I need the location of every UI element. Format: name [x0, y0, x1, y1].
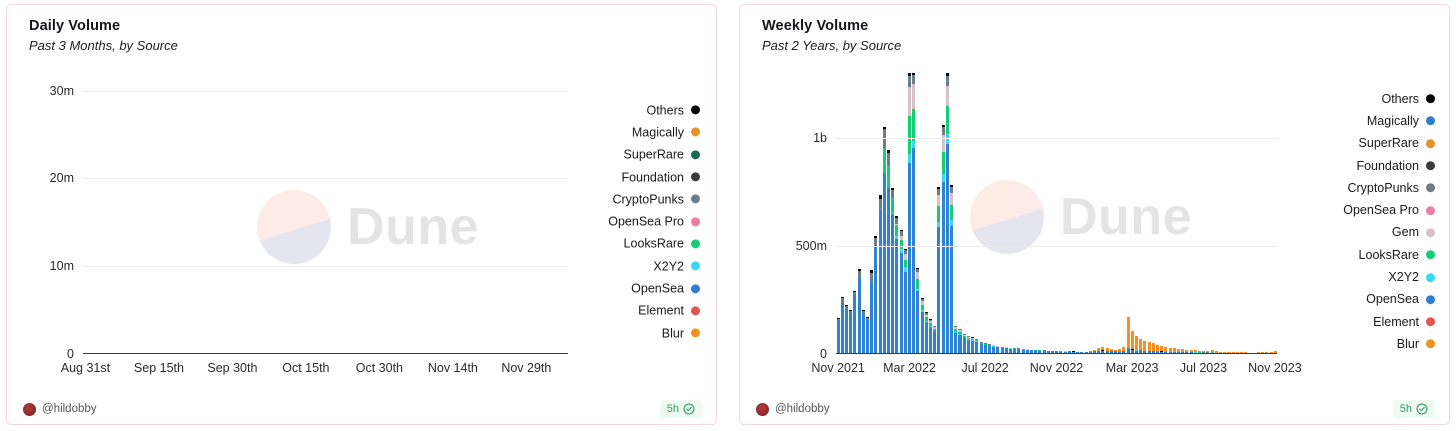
legend-label: Foundation: [621, 170, 684, 184]
legend-item-foundation[interactable]: Foundation: [621, 167, 700, 187]
x-axis-tick-label: Nov 14th: [428, 361, 478, 375]
bar-segment: [849, 313, 852, 353]
legend-item-opensea-pro[interactable]: OpenSea Pro: [1343, 200, 1435, 220]
panel-footer: @hildobby 5h: [740, 394, 1449, 424]
chart-daily-volume: 010m20m30mAug 31stSep 15thSep 30thOct 15…: [7, 63, 716, 380]
legend-item-others[interactable]: Others: [1381, 89, 1435, 109]
legend-label: SuperRare: [624, 148, 684, 162]
gridline: [83, 266, 568, 267]
bar-segment: [916, 279, 919, 289]
legend-item-others[interactable]: Others: [646, 100, 700, 120]
legend-color-dot: [691, 262, 700, 271]
legend-label: SuperRare: [1359, 136, 1419, 150]
page-title: Daily Volume: [29, 17, 716, 35]
legend-label: OpenSea: [1366, 293, 1419, 307]
x-axis-tick-label: Sep 15th: [134, 361, 184, 375]
legend-color-dot: [1426, 273, 1435, 282]
bar-segment: [853, 296, 856, 353]
bar-segment: [1131, 331, 1134, 349]
bar-segment: [916, 272, 919, 279]
legend-item-element[interactable]: Element: [1373, 312, 1435, 332]
panel-header: Weekly Volume Past 2 Years, by Source: [740, 5, 1449, 55]
chart-legend[interactable]: OthersMagicallySuperRareFoundationCrypto…: [608, 100, 700, 343]
bar-segment: [904, 272, 907, 353]
bar-segment: [984, 345, 987, 353]
bar-segment: [891, 190, 894, 197]
bar-segment: [841, 303, 844, 353]
legend-color-dot: [691, 195, 700, 204]
panel-weekly-volume: Weekly Volume Past 2 Years, by Source Du…: [739, 4, 1450, 425]
x-axis-tick-label: Nov 29th: [501, 361, 551, 375]
legend-color-dot: [691, 217, 700, 226]
avatar: [756, 403, 769, 416]
legend-color-dot: [1426, 117, 1435, 126]
page-title: Weekly Volume: [762, 17, 1449, 35]
y-axis-tick-label: 30m: [50, 84, 74, 98]
bar-segment: [980, 344, 983, 353]
x-axis-tick-label: Mar 2023: [1106, 361, 1159, 375]
bar-segment: [925, 322, 928, 353]
legend-label: LooksRare: [1359, 248, 1419, 262]
x-axis-tick-label: Sep 30th: [207, 361, 257, 375]
author[interactable]: @hildobby: [756, 403, 830, 416]
panel-header: Daily Volume Past 3 Months, by Source: [7, 5, 716, 55]
bar-segment: [837, 320, 840, 353]
gridline: [836, 246, 1277, 247]
legend-color-dot: [1426, 228, 1435, 237]
gridline: [83, 91, 568, 92]
bar-segment: [912, 109, 915, 141]
check-circle-icon: [683, 403, 695, 415]
panel-subtitle: Past 3 Months, by Source: [29, 37, 716, 55]
panel-subtitle: Past 2 Years, by Source: [762, 37, 1449, 55]
bar-segment: [891, 198, 894, 214]
legend-item-element[interactable]: Element: [638, 301, 700, 321]
bar-segment: [1127, 317, 1130, 348]
x-axis-tick-label: Aug 31st: [61, 361, 110, 375]
bar-segment: [950, 205, 953, 221]
legend-item-cryptopunks[interactable]: CryptoPunks: [1347, 178, 1435, 198]
legend-item-x2y2[interactable]: X2Y2: [1388, 267, 1435, 287]
check-circle-icon: [1416, 403, 1428, 415]
legend-item-looksrare[interactable]: LooksRare: [1359, 245, 1435, 265]
author[interactable]: @hildobby: [23, 403, 97, 416]
bar-segment: [908, 116, 911, 154]
bar-segment: [950, 193, 953, 205]
legend-label: Element: [638, 304, 684, 318]
plot-area: 0500m1bNov 2021Mar 2022Jul 2022Nov 2022M…: [836, 73, 1277, 354]
bar-segment: [937, 195, 940, 207]
freshness-label: 5h: [1400, 403, 1412, 415]
bar-segment: [887, 153, 890, 166]
bar-segment: [908, 154, 911, 163]
legend-label: X2Y2: [653, 259, 684, 273]
bar-segment: [1139, 339, 1142, 350]
x-axis-line: [836, 353, 1277, 354]
legend-item-opensea[interactable]: OpenSea: [1366, 289, 1435, 309]
bar-segment: [891, 214, 894, 353]
x-axis-tick-label: Jul 2022: [961, 361, 1008, 375]
legend-label: OpenSea: [631, 281, 684, 295]
bar-segment: [895, 225, 898, 236]
legend-label: Blur: [1397, 337, 1419, 351]
bar-segment: [1143, 341, 1146, 351]
legend-color-dot: [1426, 295, 1435, 304]
x-axis-line: [83, 353, 568, 354]
bar-segment: [975, 342, 978, 353]
bar-series-container: [83, 73, 568, 353]
legend-color-dot: [691, 306, 700, 315]
gridline: [836, 138, 1277, 139]
x-axis-tick-label: Nov 2023: [1248, 361, 1302, 375]
legend-color-dot: [691, 328, 700, 337]
legend-item-foundation[interactable]: Foundation: [1356, 156, 1435, 176]
y-axis-tick-label: 1b: [813, 131, 827, 145]
bar-segment: [879, 210, 882, 353]
bar-segment: [946, 134, 949, 144]
y-axis-tick-label: 0: [820, 347, 827, 361]
bar-segment: [946, 86, 949, 106]
bar-segment: [916, 291, 919, 353]
y-axis-tick-label: 10m: [50, 259, 74, 273]
legend-color-dot: [691, 128, 700, 137]
y-axis-tick-label: 0: [67, 347, 74, 361]
gridline: [83, 178, 568, 179]
author-handle: @hildobby: [42, 403, 97, 415]
bar-segment: [967, 340, 970, 353]
legend-color-dot: [1426, 94, 1435, 103]
legend-color-dot: [1426, 184, 1435, 193]
bar-segment: [874, 245, 877, 353]
bar-segment: [858, 277, 861, 353]
legend-color-dot: [691, 106, 700, 115]
legend-item-magically[interactable]: Magically: [632, 122, 700, 142]
legend-label: Element: [1373, 315, 1419, 329]
freshness-badge[interactable]: 5h: [1393, 400, 1435, 418]
bar-segment: [963, 338, 966, 353]
x-axis-tick-label: Oct 15th: [282, 361, 329, 375]
legend-item-blur[interactable]: Blur: [662, 323, 700, 343]
bar-segment: [908, 163, 911, 353]
bar-segment: [862, 313, 865, 353]
legend-item-magically[interactable]: Magically: [1367, 111, 1435, 131]
bar-segment: [942, 152, 945, 174]
legend-item-blur[interactable]: Blur: [1397, 334, 1435, 354]
bar-segment: [908, 87, 911, 117]
legend-item-opensea[interactable]: OpenSea: [631, 278, 700, 298]
bar-segment: [1152, 343, 1155, 351]
bar-segment: [912, 84, 915, 109]
panel-daily-volume: Daily Volume Past 3 Months, by Source Du…: [6, 4, 717, 425]
chart-legend[interactable]: OthersMagicallySuperRareFoundationCrypto…: [1343, 89, 1435, 355]
bar-segment: [942, 182, 945, 353]
y-axis-tick-label: 500m: [796, 239, 827, 253]
bar-segment: [895, 239, 898, 353]
bar-column[interactable]: [564, 73, 569, 353]
bar-segment: [937, 206, 940, 222]
legend-label: Blur: [662, 326, 684, 340]
bar-column[interactable]: [1273, 73, 1277, 353]
bar-segment: [958, 335, 961, 353]
bar-segment: [912, 141, 915, 148]
bar-segment: [988, 346, 991, 353]
x-axis-tick-label: Nov 2022: [1030, 361, 1084, 375]
legend-label: CryptoPunks: [1347, 181, 1419, 195]
bar-segment: [870, 273, 873, 282]
y-axis-tick-label: 20m: [50, 171, 74, 185]
legend-label: CryptoPunks: [612, 192, 684, 206]
x-axis-tick-label: Oct 30th: [356, 361, 403, 375]
bar-segment: [866, 320, 869, 353]
legend-label: OpenSea Pro: [608, 214, 684, 228]
legend-color-dot: [691, 284, 700, 293]
bar-segment: [900, 240, 903, 249]
bar-segment: [946, 106, 949, 134]
x-axis-tick-label: Jul 2023: [1180, 361, 1227, 375]
bar-segment: [887, 166, 890, 188]
bar-segment: [921, 312, 924, 353]
legend-item-gem[interactable]: Gem: [1392, 223, 1435, 243]
legend-label: Others: [646, 103, 684, 117]
legend-item-superrare[interactable]: SuperRare: [624, 144, 700, 164]
bar-segment: [908, 76, 911, 87]
author-handle: @hildobby: [775, 403, 830, 415]
bar-segment: [883, 148, 886, 173]
panel-footer: @hildobby 5h: [7, 394, 716, 424]
legend-label: X2Y2: [1388, 270, 1419, 284]
bar-segment: [1135, 336, 1138, 350]
legend-color-dot: [691, 150, 700, 159]
legend-label: Magically: [1367, 114, 1419, 128]
legend-item-superrare[interactable]: SuperRare: [1359, 133, 1435, 153]
legend-label: Gem: [1392, 226, 1419, 240]
bar-segment: [887, 188, 890, 353]
bar-segment: [929, 327, 932, 353]
legend-color-dot: [1426, 206, 1435, 215]
x-axis-tick-label: Nov 2021: [811, 361, 865, 375]
legend-item-x2y2[interactable]: X2Y2: [653, 256, 700, 276]
bar-segment: [942, 127, 945, 135]
bar-segment: [1148, 342, 1151, 350]
plot-area: 010m20m30mAug 31stSep 15thSep 30thOct 15…: [83, 73, 568, 354]
legend-label: Foundation: [1356, 159, 1419, 173]
bar-segment: [912, 148, 915, 353]
legend-color-dot: [1426, 250, 1435, 259]
bar-segment: [946, 144, 949, 353]
bar-segment: [883, 173, 886, 353]
bar-segment: [942, 174, 945, 182]
legend-color-dot: [691, 239, 700, 248]
legend-item-cryptopunks[interactable]: CryptoPunks: [612, 189, 700, 209]
freshness-badge[interactable]: 5h: [660, 400, 702, 418]
bar-segment: [870, 282, 873, 353]
legend-item-looksrare[interactable]: LooksRare: [624, 234, 700, 254]
legend-item-opensea-pro[interactable]: OpenSea Pro: [608, 211, 700, 231]
bar-segment: [954, 333, 957, 353]
bar-segment: [900, 253, 903, 353]
legend-color-dot: [1426, 340, 1435, 349]
bar-segment: [933, 331, 936, 353]
legend-color-dot: [1426, 317, 1435, 326]
dashboard: Daily Volume Past 3 Months, by Source Du…: [0, 0, 1456, 431]
bar-segment: [912, 75, 915, 84]
bar-series-container: [836, 73, 1277, 353]
bar-segment: [879, 199, 882, 209]
legend-label: Magically: [632, 125, 684, 139]
bar-segment: [971, 341, 974, 353]
avatar: [23, 403, 36, 416]
legend-color-dot: [1426, 139, 1435, 148]
x-axis-tick-label: Mar 2022: [883, 361, 936, 375]
legend-color-dot: [1426, 161, 1435, 170]
bar-segment: [845, 309, 848, 353]
legend-label: OpenSea Pro: [1343, 203, 1419, 217]
freshness-label: 5h: [667, 403, 679, 415]
chart-weekly-volume: 0500m1bNov 2021Mar 2022Jul 2022Nov 2022M…: [740, 63, 1449, 380]
legend-label: LooksRare: [624, 237, 684, 251]
legend-color-dot: [691, 172, 700, 181]
bar-segment: [946, 76, 949, 86]
legend-label: Others: [1381, 92, 1419, 106]
bar-segment: [904, 260, 907, 267]
